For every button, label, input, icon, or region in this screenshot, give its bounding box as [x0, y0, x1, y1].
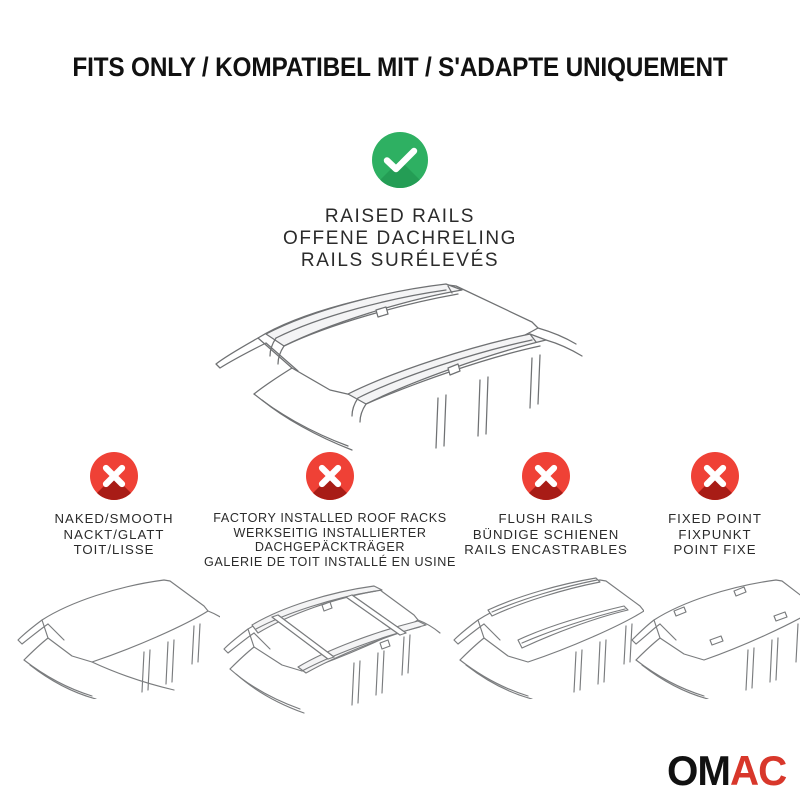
check-circle-icon [372, 132, 428, 188]
car-roof-naked-illustration [8, 564, 220, 699]
item-label-fr: RAILS ENCASTRABLES [448, 542, 644, 558]
compatibility-infographic: FITS ONLY / KOMPATIBEL MIT / S'ADAPTE UN… [0, 0, 800, 800]
compatible-label-en: RAISED RAILS [0, 206, 800, 228]
item-label-de: NACKT/GLATT [8, 527, 220, 543]
item-label-fr: TOIT/LISSE [8, 542, 220, 558]
compatible-badge-holder [0, 132, 800, 188]
badge-holder [202, 452, 458, 500]
compatible-label-de: OFFENE DACHRELING [0, 228, 800, 250]
incompatible-item-factory-rack: FACTORY INSTALLED ROOF RACKS WERKSEITIG … [202, 452, 458, 715]
incompatible-item-fixed-point: FIXED POINT FIXPUNKT POINT FIXE [630, 452, 800, 699]
compatible-label-fr: RAILS SURÉLEVÉS [0, 250, 800, 272]
item-label-de-1: WERKSEITIG INSTALLIERTER [202, 526, 458, 541]
car-roof-factory-rack-illustration [202, 575, 458, 715]
item-label-de-2: DACHGEPÄCKTRÄGER [202, 540, 458, 555]
page-title-container: FITS ONLY / KOMPATIBEL MIT / S'ADAPTE UN… [0, 50, 800, 84]
item-labels: FACTORY INSTALLED ROOF RACKS WERKSEITIG … [202, 511, 458, 569]
item-label-de: BÜNDIGE SCHIENEN [448, 527, 644, 543]
compatible-labels: RAISED RAILS OFFENE DACHRELING RAILS SUR… [0, 206, 800, 272]
item-label-en: FACTORY INSTALLED ROOF RACKS [202, 511, 458, 526]
item-label-fr: GALERIE DE TOIT INSTALLÉ EN USINE [202, 555, 458, 570]
item-label-en: FIXED POINT [630, 511, 800, 527]
badge-holder [630, 452, 800, 500]
badge-holder [448, 452, 644, 500]
x-circle-icon [691, 452, 739, 500]
compatible-section: RAISED RAILS OFFENE DACHRELING RAILS SUR… [0, 132, 800, 272]
badge-holder [8, 452, 220, 500]
logo-text-dark: OM [667, 747, 730, 794]
incompatible-item-naked-smooth: NAKED/SMOOTH NACKT/GLATT TOIT/LISSE [8, 452, 220, 699]
page-title: FITS ONLY / KOMPATIBEL MIT / S'ADAPTE UN… [32, 50, 768, 84]
omac-logo: OMAC [667, 750, 786, 792]
x-circle-icon [90, 452, 138, 500]
car-roof-flush-rails-illustration [448, 564, 644, 699]
incompatible-section: NAKED/SMOOTH NACKT/GLATT TOIT/LISSE [0, 452, 800, 702]
item-labels: FLUSH RAILS BÜNDIGE SCHIENEN RAILS ENCAS… [448, 511, 644, 558]
item-label-en: NAKED/SMOOTH [8, 511, 220, 527]
incompatible-item-flush-rails: FLUSH RAILS BÜNDIGE SCHIENEN RAILS ENCAS… [448, 452, 644, 699]
item-label-fr: POINT FIXE [630, 542, 800, 558]
item-labels: FIXED POINT FIXPUNKT POINT FIXE [630, 511, 800, 558]
car-roof-raised-rails-illustration [180, 276, 620, 456]
logo-text-red: AC [730, 747, 786, 794]
car-roof-fixed-point-illustration [630, 564, 800, 699]
item-label-de: FIXPUNKT [630, 527, 800, 543]
item-labels: NAKED/SMOOTH NACKT/GLATT TOIT/LISSE [8, 511, 220, 558]
x-circle-icon [306, 452, 354, 500]
item-label-en: FLUSH RAILS [448, 511, 644, 527]
x-circle-icon [522, 452, 570, 500]
